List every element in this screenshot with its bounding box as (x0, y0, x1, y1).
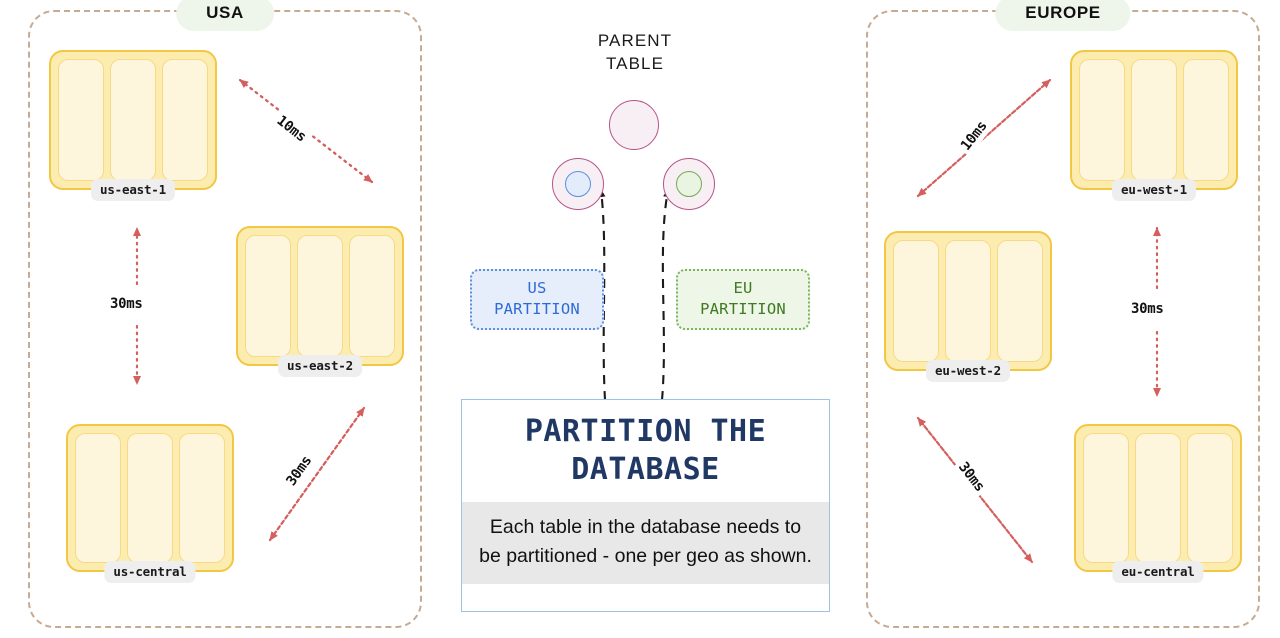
diagram-canvas: USA us-east-1 us-east-2 us-central (0, 0, 1280, 638)
us-partition-tag[interactable]: US PARTITION (470, 269, 604, 330)
node-eu-west-1-label: eu-west-1 (1112, 179, 1196, 201)
us-partition-circle-inner (565, 171, 591, 197)
latency-europe-10ms: 10ms (910, 72, 1060, 204)
parent-table-caption-line1: PARENT (520, 30, 750, 53)
node-eu-central-label: eu-central (1112, 561, 1203, 583)
region-usa-title: USA (176, 0, 274, 31)
node-us-east-1[interactable]: us-east-1 (49, 50, 217, 190)
node-eu-west-2[interactable]: eu-west-2 (884, 231, 1052, 371)
node-eu-west-1[interactable]: eu-west-1 (1070, 50, 1238, 190)
us-partition-tag-line2: PARTITION (476, 299, 598, 320)
node-us-east-1-box (49, 50, 217, 190)
callout-body: Each table in the database needs to be p… (462, 502, 829, 584)
callout-box: PARTITION THE DATABASE Each table in the… (461, 399, 830, 612)
node-slot (1135, 433, 1181, 563)
node-eu-west-1-box (1070, 50, 1238, 190)
node-us-central-label: us-central (104, 561, 195, 583)
latency-europe-30ms-diagonal: 30ms (910, 410, 1050, 570)
node-slot (162, 59, 208, 181)
eu-partition-circle-inner (676, 171, 702, 197)
node-slot (1079, 59, 1125, 181)
node-slot (297, 235, 343, 357)
callout-heading: PARTITION THE DATABASE (462, 400, 829, 502)
node-slot (1131, 59, 1177, 181)
node-us-east-2-label: us-east-2 (278, 355, 362, 377)
eu-partition-tag[interactable]: EU PARTITION (676, 269, 810, 330)
node-slot (58, 59, 104, 181)
latency-usa-30ms-vertical-label: 30ms (107, 295, 146, 313)
node-slot (75, 433, 121, 563)
eu-partition-circle[interactable] (663, 158, 715, 210)
latency-europe-30ms-vertical: 30ms (1132, 222, 1182, 402)
node-slot (127, 433, 173, 563)
node-us-east-1-label: us-east-1 (91, 179, 175, 201)
callout-heading-line1: PARTITION THE (476, 413, 815, 451)
eu-partition-tag-line2: PARTITION (682, 299, 804, 320)
node-eu-central-box (1074, 424, 1242, 572)
node-slot (349, 235, 395, 357)
parent-table-caption-line2: TABLE (520, 53, 750, 76)
node-slot (1187, 433, 1233, 563)
region-europe-title: EUROPE (995, 0, 1130, 31)
node-us-central[interactable]: us-central (66, 424, 234, 572)
eu-partition-tag-line1: EU (682, 278, 804, 299)
node-slot (245, 235, 291, 357)
node-slot (1083, 433, 1129, 563)
node-slot (893, 240, 939, 362)
node-slot (1183, 59, 1229, 181)
node-slot (945, 240, 991, 362)
node-eu-central[interactable]: eu-central (1074, 424, 1242, 572)
latency-usa-30ms-diagonal: 30ms (252, 400, 382, 550)
node-us-east-2-box (236, 226, 404, 366)
node-slot (110, 59, 156, 181)
us-partition-tag-line1: US (476, 278, 598, 299)
node-eu-west-2-label: eu-west-2 (926, 360, 1010, 382)
latency-europe-30ms-vertical-label: 30ms (1128, 300, 1167, 318)
node-us-central-box (66, 424, 234, 572)
node-us-east-2[interactable]: us-east-2 (236, 226, 404, 366)
latency-usa-30ms-vertical: 30ms (112, 222, 162, 390)
us-partition-circle[interactable] (552, 158, 604, 210)
node-slot (997, 240, 1043, 362)
parent-table-caption: PARENT TABLE (520, 30, 750, 76)
callout-heading-line2: DATABASE (476, 451, 815, 489)
connector-to-eu-partition (662, 190, 668, 400)
node-slot (179, 433, 225, 563)
node-eu-west-2-box (884, 231, 1052, 371)
latency-usa-10ms: 10ms (232, 72, 382, 192)
parent-table-circle[interactable] (609, 100, 659, 150)
